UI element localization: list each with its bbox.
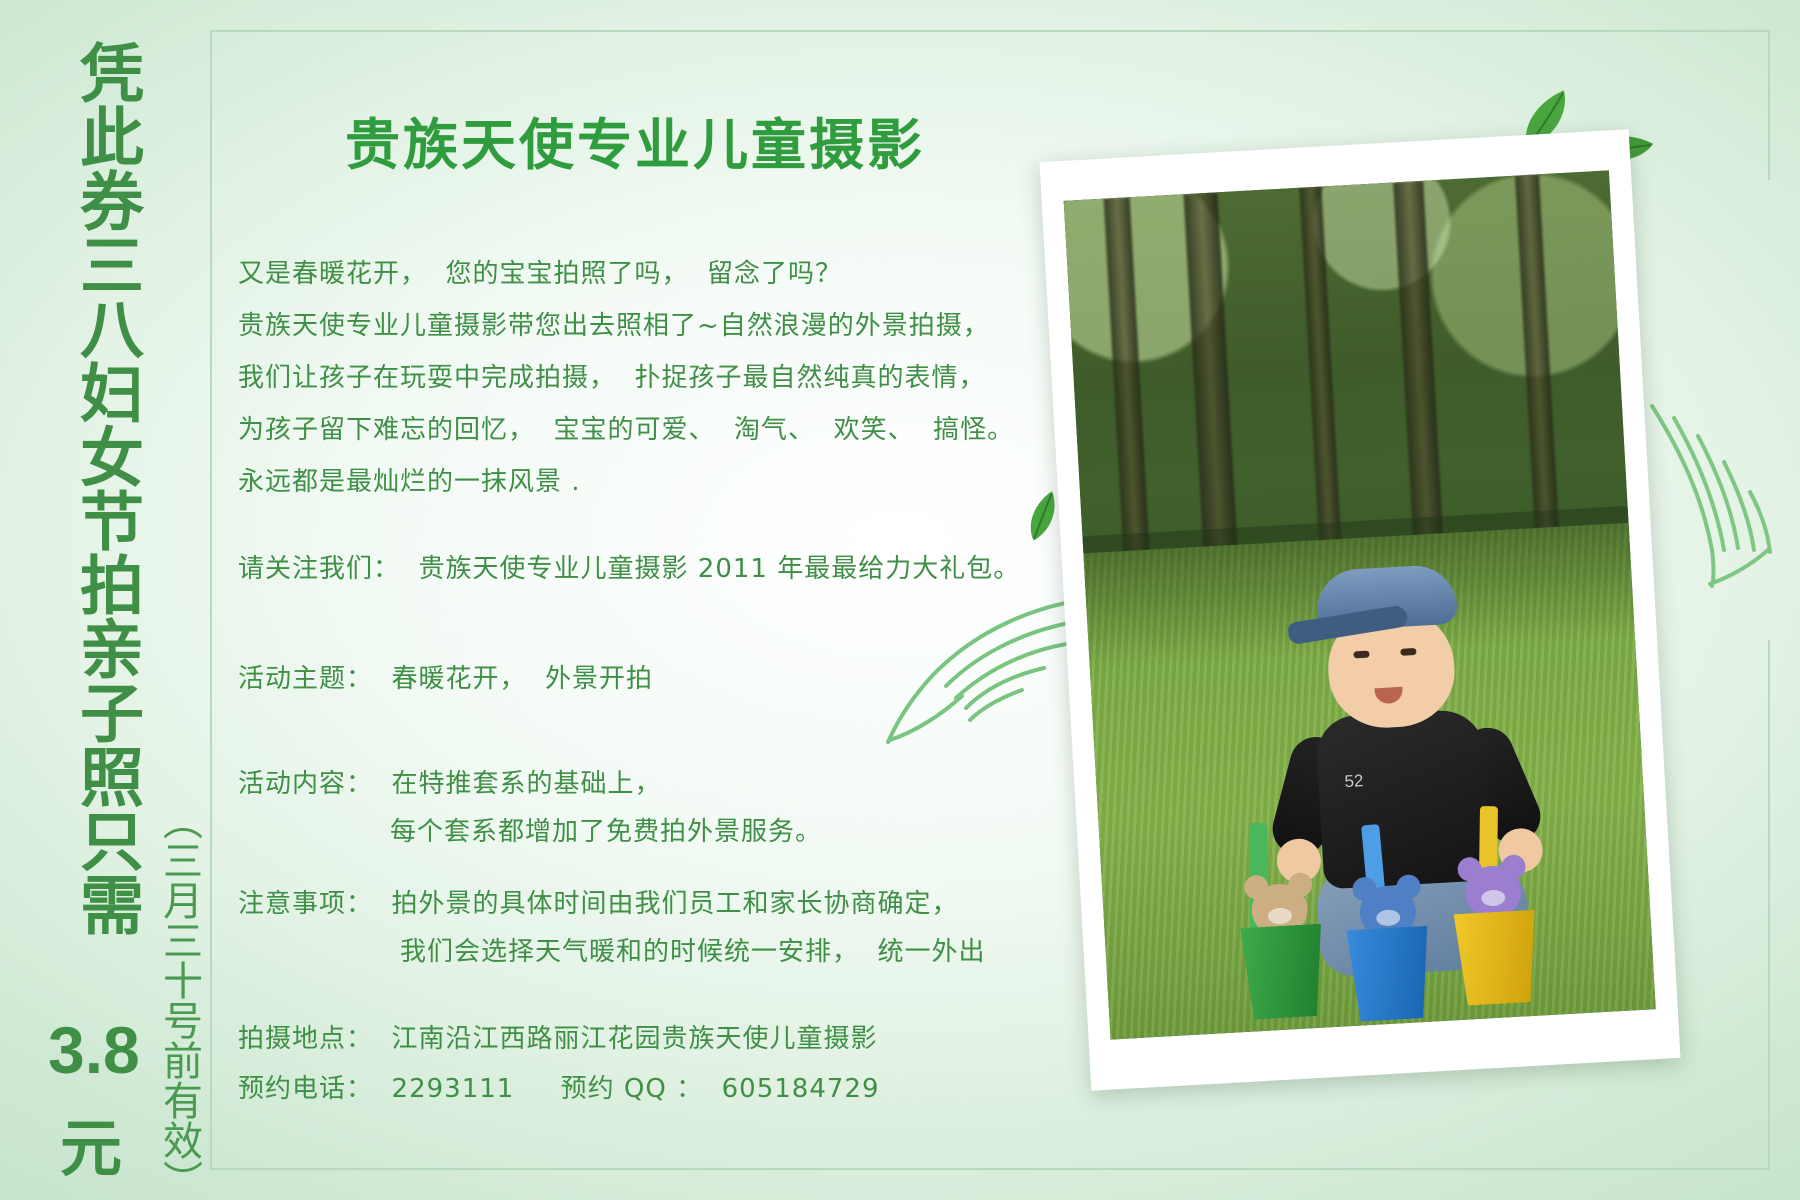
intro-line: 永远都是最灿烂的一抹风景 . [238, 456, 1108, 508]
photo-frame: 52 [1040, 129, 1681, 1090]
coupon-price: 3.8 [48, 1012, 140, 1088]
intro-paragraph: 又是春暖花开， 您的宝宝拍照了吗， 留念了吗？ 贵族天使专业儿童摄影带您出去照相… [238, 248, 1108, 508]
toddler-jacket-number: 52 [1344, 771, 1364, 792]
event-theme-text: 活动主题： 春暖花开， 外景开拍 [238, 655, 653, 703]
angel-wing-icon [1640, 400, 1800, 595]
frame-border-bottom [210, 1168, 1770, 1170]
toddler-eye [1353, 651, 1369, 659]
notice-line-1: 注意事项： 拍外景的具体时间由我们员工和家长协商确定， [238, 880, 959, 928]
event-content-line-1: 活动内容： 在特推套系的基础上， [238, 760, 662, 808]
intro-line: 为孩子留下难忘的回忆， 宝宝的可爱、 淘气、 欢笑、 搞怪。 [238, 404, 1108, 456]
toddler-in-park-photo: 52 [1064, 170, 1656, 1039]
frame-border-top [210, 30, 1770, 32]
frame-border-right-lower [1768, 640, 1770, 1170]
notice-line-2: 我们会选择天气暖和的时候统一安排， 统一外出 [400, 928, 986, 976]
shooting-location: 拍摄地点： 江南沿江西路丽江花园贵族天使儿童摄影 [238, 1015, 878, 1063]
frame-border-left [210, 30, 212, 1170]
coupon-headline: 凭此券三八妇女节拍亲子照只需 [52, 40, 138, 936]
booking-contact: 预约电话： 2293111 预约 QQ ： 605184729 [238, 1065, 880, 1113]
intro-line: 我们让孩子在玩耍中完成拍摄， 扑捉孩子最自然纯真的表情， [238, 352, 1108, 404]
coupon-validity-note: （三月三十号前有效） [146, 800, 200, 1200]
intro-line: 又是春暖花开， 您的宝宝拍照了吗， 留念了吗？ [238, 248, 1108, 300]
coupon-currency-unit: 元 [60, 1098, 122, 1188]
coupon-strip: 凭此券三八妇女节拍亲子照只需 3.8 元 （三月三十号前有效） [0, 0, 210, 1200]
follow-us-text: 请关注我们： 贵族天使专业儿童摄影 2011 年最最给力大礼包。 [238, 545, 1020, 593]
intro-line: 贵族天使专业儿童摄影带您出去照相了~自然浪漫的外景拍摄， [238, 300, 1108, 352]
studio-title: 贵族天使专业儿童摄影 [345, 100, 925, 180]
frame-border-right-upper [1768, 30, 1770, 180]
event-content-line-2: 每个套系都增加了免费拍外景服务。 [390, 808, 822, 856]
toddler-eye [1400, 648, 1416, 656]
